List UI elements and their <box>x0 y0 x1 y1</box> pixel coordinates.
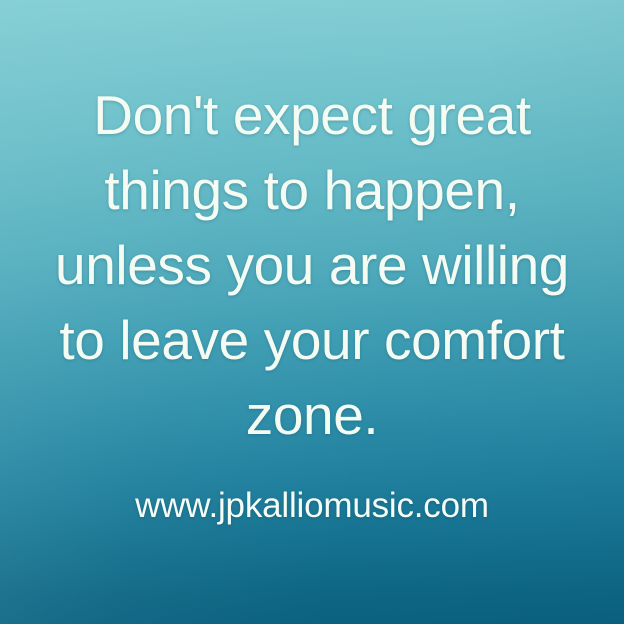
quote-line-2: things to happen, <box>0 153 624 228</box>
website-url: www.jpkalliomusic.com <box>0 483 624 528</box>
quote-text-block: Don't expect great things to happen, unl… <box>0 78 624 453</box>
quote-graphic-canvas: Don't expect great things to happen, unl… <box>0 0 624 624</box>
quote-line-5: zone. <box>0 378 624 453</box>
quote-line-3: unless you are willing <box>0 228 624 303</box>
quote-line-1: Don't expect great <box>0 78 624 153</box>
quote-line-4: to leave your comfort <box>0 303 624 378</box>
